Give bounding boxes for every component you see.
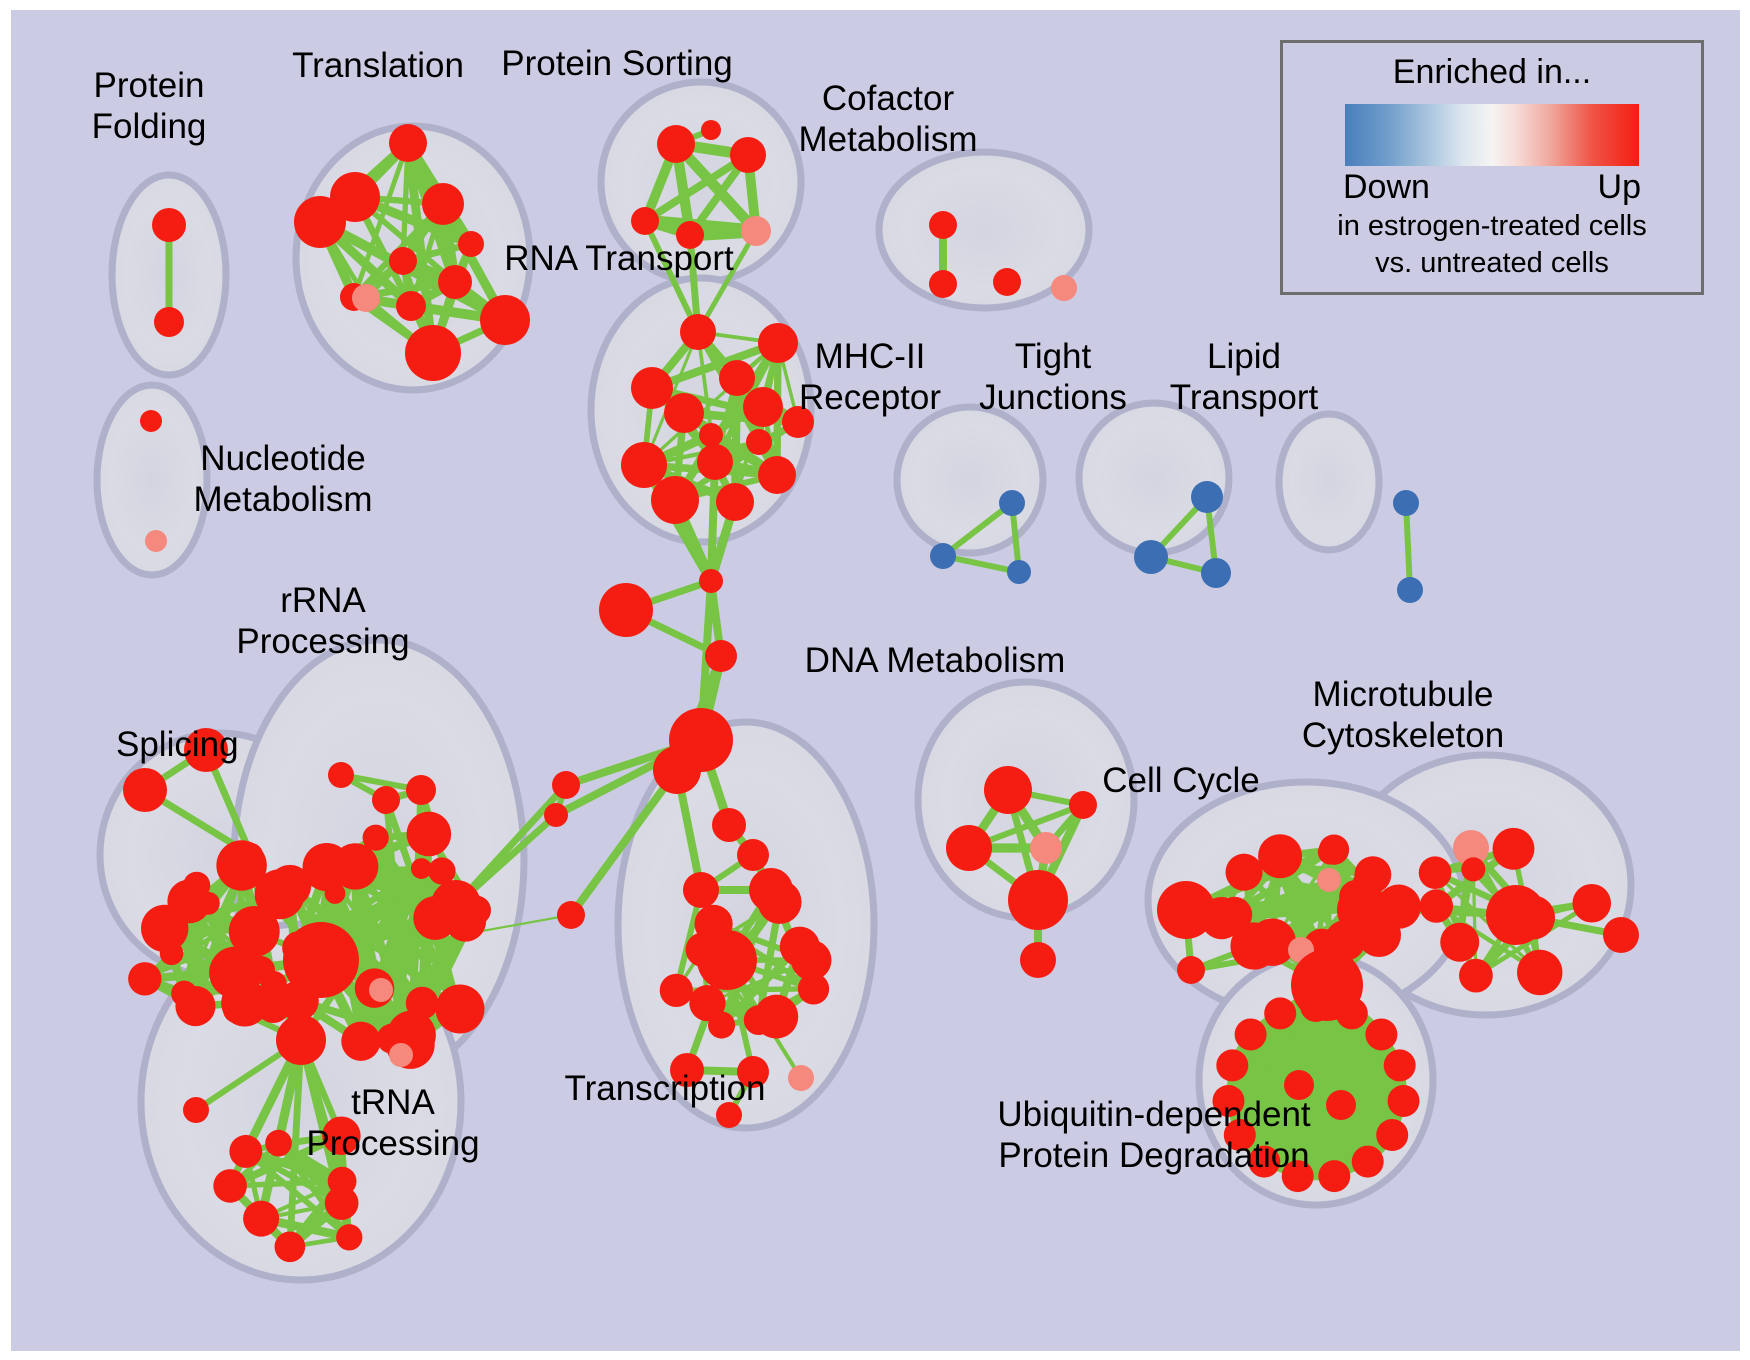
legend-title: Enriched in...	[1283, 53, 1701, 92]
network-node[interactable]	[341, 1022, 380, 1061]
network-node[interactable]	[621, 442, 667, 488]
network-node[interactable]	[1419, 856, 1452, 889]
network-node[interactable]	[1393, 897, 1419, 923]
network-node[interactable]	[328, 762, 354, 788]
network-node[interactable]	[197, 892, 220, 915]
network-node[interactable]	[435, 984, 484, 1033]
network-node[interactable]	[1258, 834, 1302, 878]
cluster-label-ubiquitin-degradation: Ubiquitin-dependent Protein Degradation	[997, 1094, 1310, 1176]
network-node[interactable]	[431, 880, 481, 930]
network-node[interactable]	[405, 325, 461, 381]
network-node[interactable]	[557, 901, 585, 929]
network-node[interactable]	[1393, 490, 1419, 516]
network-node[interactable]	[657, 125, 695, 163]
network-node[interactable]	[737, 839, 769, 871]
network-node[interactable]	[664, 393, 704, 433]
figure-root: Protein FoldingTranslationProtein Sortin…	[0, 0, 1750, 1360]
network-node[interactable]	[1226, 854, 1263, 891]
network-node[interactable]	[407, 812, 452, 857]
network-node[interactable]	[389, 1043, 413, 1067]
network-node[interactable]	[1376, 1119, 1408, 1151]
network-node[interactable]	[758, 880, 802, 924]
network-node[interactable]	[171, 981, 197, 1007]
network-node[interactable]	[229, 906, 280, 957]
network-node[interactable]	[946, 825, 992, 871]
network-node[interactable]	[1051, 275, 1077, 301]
cluster-label-protein-sorting: Protein Sorting	[501, 43, 733, 84]
network-node[interactable]	[1357, 913, 1401, 957]
network-node[interactable]	[653, 746, 701, 794]
cluster-label-rna-transport: RNA Transport	[504, 238, 734, 279]
network-node[interactable]	[265, 1130, 292, 1157]
hull-lipid-transport	[1279, 414, 1379, 550]
network-node[interactable]	[276, 1015, 326, 1065]
network-node[interactable]	[758, 456, 796, 494]
network-node[interactable]	[1603, 917, 1639, 953]
network-node[interactable]	[389, 247, 417, 275]
network-node[interactable]	[145, 530, 167, 552]
network-node[interactable]	[1318, 1160, 1350, 1192]
network-node[interactable]	[1397, 577, 1423, 603]
network-node[interactable]	[1461, 857, 1485, 881]
legend-endpoint-labels: Down Up	[1283, 166, 1701, 207]
network-node[interactable]	[984, 766, 1032, 814]
network-node[interactable]	[1177, 956, 1205, 984]
network-node[interactable]	[1326, 1090, 1356, 1120]
network-edge	[1406, 503, 1410, 590]
network-node[interactable]	[999, 490, 1025, 516]
network-node[interactable]	[458, 231, 484, 257]
network-node[interactable]	[1440, 923, 1479, 962]
network-node[interactable]	[438, 265, 472, 299]
network-node[interactable]	[140, 410, 162, 432]
network-node[interactable]	[680, 314, 716, 350]
network-node[interactable]	[683, 872, 719, 908]
network-node[interactable]	[352, 284, 380, 312]
network-node[interactable]	[1388, 1085, 1420, 1117]
network-node[interactable]	[697, 930, 757, 990]
cluster-label-translation: Translation	[292, 45, 464, 86]
network-node[interactable]	[741, 216, 771, 246]
legend-high-label: Up	[1598, 168, 1641, 207]
network-node[interactable]	[744, 1005, 774, 1035]
network-node[interactable]	[1493, 828, 1535, 870]
network-node[interactable]	[480, 295, 530, 345]
network-node[interactable]	[929, 270, 957, 298]
network-node[interactable]	[689, 985, 725, 1021]
network-node[interactable]	[1319, 834, 1349, 864]
network-node[interactable]	[229, 1135, 262, 1168]
network-node[interactable]	[152, 208, 186, 242]
cluster-label-microtubule-cytoskeleton: Microtubule Cytoskeleton	[1302, 674, 1504, 756]
network-node[interactable]	[1030, 832, 1062, 864]
cluster-label-nucleotide-metabolism: Nucleotide Metabolism	[194, 438, 373, 520]
network-node[interactable]	[332, 843, 378, 889]
cluster-label-cell-cycle: Cell Cycle	[1102, 760, 1260, 801]
network-node[interactable]	[660, 974, 693, 1007]
network-canvas: Protein FoldingTranslationProtein Sortin…	[11, 10, 1740, 1351]
cluster-label-cofactor-metabolism: Cofactor Metabolism	[799, 78, 978, 160]
network-node[interactable]	[758, 323, 798, 363]
network-node[interactable]	[1069, 791, 1097, 819]
network-node[interactable]	[791, 940, 832, 981]
cluster-label-mhc-ii-receptor: MHC-II Receptor	[799, 336, 941, 418]
network-node[interactable]	[1191, 481, 1223, 513]
network-node[interactable]	[369, 978, 393, 1002]
network-node[interactable]	[930, 543, 956, 569]
network-node[interactable]	[1317, 868, 1341, 892]
network-node[interactable]	[328, 1167, 357, 1196]
network-node[interactable]	[1517, 950, 1562, 995]
network-node[interactable]	[275, 1231, 306, 1262]
network-node[interactable]	[651, 476, 699, 524]
network-node[interactable]	[1007, 560, 1031, 584]
network-node[interactable]	[1020, 942, 1056, 978]
cluster-label-lipid-transport: Lipid Transport	[1170, 336, 1318, 418]
network-node[interactable]	[336, 1224, 362, 1250]
network-node[interactable]	[1572, 884, 1611, 923]
cluster-label-trna-processing: tRNA Processing	[306, 1082, 479, 1164]
network-node[interactable]	[544, 803, 568, 827]
network-node[interactable]	[599, 583, 653, 637]
hull-mhc-ii-receptor	[897, 407, 1043, 553]
network-node[interactable]	[1235, 1018, 1267, 1050]
network-node[interactable]	[283, 922, 359, 998]
network-node[interactable]	[1134, 540, 1168, 574]
network-node[interactable]	[699, 423, 723, 447]
network-node[interactable]	[213, 1169, 247, 1203]
network-node[interactable]	[631, 207, 659, 235]
network-node[interactable]	[1365, 1018, 1397, 1050]
network-node[interactable]	[1352, 1146, 1384, 1178]
cluster-label-rrna-processing: rRNA Processing	[236, 580, 409, 662]
network-node[interactable]	[993, 268, 1021, 296]
network-node[interactable]	[396, 291, 426, 321]
network-node[interactable]	[406, 775, 436, 805]
network-node[interactable]	[128, 962, 161, 995]
network-node[interactable]	[1216, 897, 1252, 933]
cluster-label-dna-metabolism: DNA Metabolism	[805, 640, 1066, 681]
network-node[interactable]	[183, 1097, 209, 1123]
cluster-label-protein-folding: Protein Folding	[92, 65, 207, 147]
network-node[interactable]	[389, 124, 427, 162]
cluster-label-tight-junctions: Tight Junctions	[979, 336, 1127, 418]
network-node[interactable]	[697, 444, 733, 480]
legend-low-label: Down	[1343, 168, 1430, 207]
network-node[interactable]	[719, 360, 755, 396]
network-node[interactable]	[363, 825, 389, 851]
legend-gradient-bar	[1345, 104, 1639, 166]
network-node[interactable]	[1008, 870, 1068, 930]
legend-panel: Enriched in... Down Up in estrogen-treat…	[1280, 40, 1704, 295]
network-node[interactable]	[552, 771, 580, 799]
network-node[interactable]	[743, 387, 783, 427]
network-node[interactable]	[746, 429, 772, 455]
network-node[interactable]	[699, 569, 723, 593]
network-node[interactable]	[1264, 997, 1296, 1029]
network-node[interactable]	[1459, 959, 1493, 993]
network-node[interactable]	[716, 483, 754, 521]
legend-caption-line1: in estrogen-treated cells	[1283, 209, 1701, 244]
network-node[interactable]	[1420, 889, 1453, 922]
network-node[interactable]	[294, 196, 346, 248]
network-node[interactable]	[247, 956, 275, 984]
cluster-label-transcription: Transcription	[565, 1068, 766, 1109]
network-node[interactable]	[243, 1201, 279, 1237]
network-node[interactable]	[372, 786, 400, 814]
network-node[interactable]	[1336, 997, 1368, 1029]
network-node[interactable]	[1216, 1049, 1248, 1081]
network-node[interactable]	[1384, 1049, 1416, 1081]
cluster-label-splicing: Splicing	[116, 724, 239, 765]
network-node[interactable]	[929, 211, 957, 239]
legend-caption-line2: vs. untreated cells	[1283, 246, 1701, 281]
hull-tight-junctions	[1079, 403, 1229, 553]
network-node[interactable]	[631, 367, 673, 409]
network-node[interactable]	[712, 808, 746, 842]
network-node[interactable]	[1486, 885, 1546, 945]
network-node[interactable]	[223, 997, 249, 1023]
network-node[interactable]	[1300, 990, 1332, 1022]
network-node[interactable]	[154, 307, 184, 337]
network-node[interactable]	[705, 640, 737, 672]
network-node[interactable]	[730, 137, 766, 173]
network-node[interactable]	[422, 183, 464, 225]
network-node[interactable]	[123, 768, 167, 812]
network-node[interactable]	[788, 1065, 814, 1091]
network-node[interactable]	[1201, 558, 1231, 588]
network-node[interactable]	[701, 120, 721, 140]
